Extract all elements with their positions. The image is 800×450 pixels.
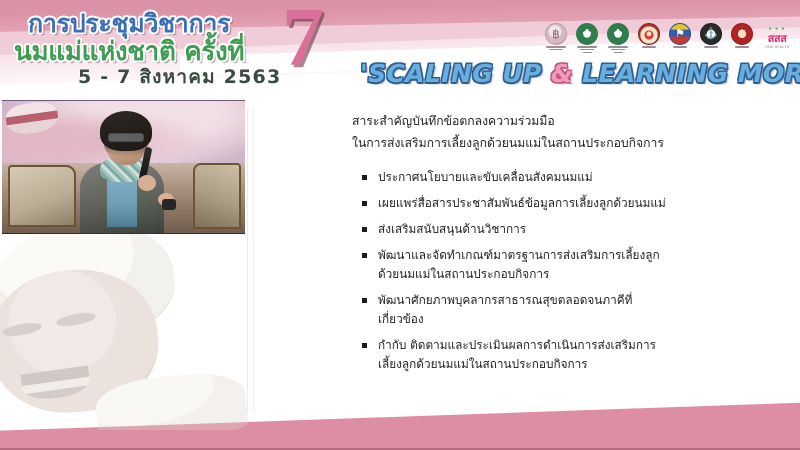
logo-medical-council-caption [576,46,598,53]
logo-red-garuda-seal: ☸ [729,23,755,53]
logo-black-seal: ⚓ [698,23,724,53]
sponsor-logo-strip: ฿ ✚ ✚ ● ⚑ ⚓ ☸ [543,23,794,53]
commitment-bullet-list: ประกาศนโยบายและขับเคลื่อนสังคมนมแม่ เผยแ… [362,168,772,374]
video-still-speaker [2,100,245,234]
speaker-hand-mic [138,175,156,191]
logo-medical-council-icon: ✚ [574,23,600,45]
tagline-open-quote: ' [360,59,368,88]
logo-national-tricolor-crest: ⚑ [667,23,693,53]
logo-medical-council-green: ✚ [574,23,600,53]
list-item: เผยแพร่สื่อสารประชาสัมพันธ์ข้อมูลการเลี้… [362,194,772,213]
presenter-clicker-icon [162,199,176,210]
logo-tricolor-caption [669,46,691,53]
content-heading-line-1: สาระสำคัญบันทึกข้อตกลงความร่วมมือ [352,110,772,132]
armchair-left [8,165,76,227]
logo-ministry-caption [638,46,660,53]
conference-tagline: 'SCALING UP & LEARNING MORE' [360,59,800,88]
logo-thaihealth-text: ● ● ● สสส THAI HEALTH [760,23,794,53]
logo-ministry-icon: ● [636,23,662,45]
tagline-ampersand: & [551,59,573,88]
list-item: พัฒนาและจัดทำเกณฑ์มาตรฐานการส่งเสริมการเ… [362,246,772,284]
logo-royal-emblem-icon: ฿ [543,23,569,45]
conference-date-range: 5 - 7 สิงหาคม 2563 [78,62,281,92]
logo-black-seal-icon: ⚓ [698,23,724,45]
armchair-right [193,163,241,229]
logo-nursing-council-green: ✚ [605,23,631,53]
logo-nursing-council-caption [607,46,629,53]
presentation-slide: 7 การประชุมวิชาการ นมแม่แห่งชาติ ครั้งที… [0,0,800,450]
speaker-eyeglasses [108,133,144,142]
list-item-line-1: พัฒนาศักยภาพบุคลากรสาธารณสุขตลอดจนภาคีที… [378,291,772,310]
logo-tricolor-icon: ⚑ [667,23,693,45]
logo-ministry-red-seal: ● [636,23,662,53]
logo-thaihealth-subtext: THAI HEALTH [764,46,789,49]
list-item-line-2: เลี้ยงลูกด้วยนมแม่ในสถานประกอบกิจการ [378,355,772,374]
list-item: พัฒนาศักยภาพบุคลากรสาธารณสุขตลอดจนภาคีที… [362,291,772,329]
logo-black-seal-caption [700,46,722,53]
list-item-line-1: ประกาศนโยบายและขับเคลื่อนสังคมนมแม่ [378,168,772,187]
logo-royal-emblem: ฿ [543,23,569,53]
logo-nursing-council-icon: ✚ [605,23,631,45]
list-item: ส่งเสริมสนับสนุนด้านวิชาการ [362,220,772,239]
conference-title-block: การประชุมวิชาการ นมแม่แห่งชาติ ครั้งที่ … [0,0,330,100]
logo-garuda-caption [731,46,753,53]
logo-thaihealth-wordmark: สสส [768,33,787,44]
background-photo-smiling-child [0,228,250,430]
list-item-line-1: พัฒนาและจัดทำเกณฑ์มาตรฐานการส่งเสริมการเ… [378,246,772,265]
tagline-part-2: LEARNING MORE [573,59,800,88]
content-heading-line-2: ในการส่งเสริมการเลี้ยงลูกด้วยนมแม่ในสถาน… [352,132,772,154]
speaker-hair [100,111,152,151]
list-item-line-2: เกี่ยวข้อง [378,310,772,329]
backdrop-mouth-graphic [4,100,60,136]
content-divider [247,108,248,412]
list-item: ประกาศนโยบายและขับเคลื่อนสังคมนมแม่ [362,168,772,187]
list-item: กำกับ ติดตามและประเมินผลการดำเนินการส่งเ… [362,336,772,374]
logo-garuda-icon: ☸ [729,23,755,45]
list-item-line-2: ด้วยนมแม่ในสถานประกอบกิจการ [378,265,772,284]
list-item-line-1: เผยแพร่สื่อสารประชาสัมพันธ์ข้อมูลการเลี้… [378,194,772,213]
list-item-line-1: กำกับ ติดตามและประเมินผลการดำเนินการส่งเ… [378,336,772,355]
logo-royal-emblem-caption [545,46,567,53]
content-divider-secondary [253,108,254,412]
slide-content: สาระสำคัญบันทึกข้อตกลงความร่วมมือ ในการส… [352,110,772,381]
tagline-part-1: SCALING UP [368,59,551,88]
list-item-line-1: ส่งเสริมสนับสนุนด้านวิชาการ [378,220,772,239]
